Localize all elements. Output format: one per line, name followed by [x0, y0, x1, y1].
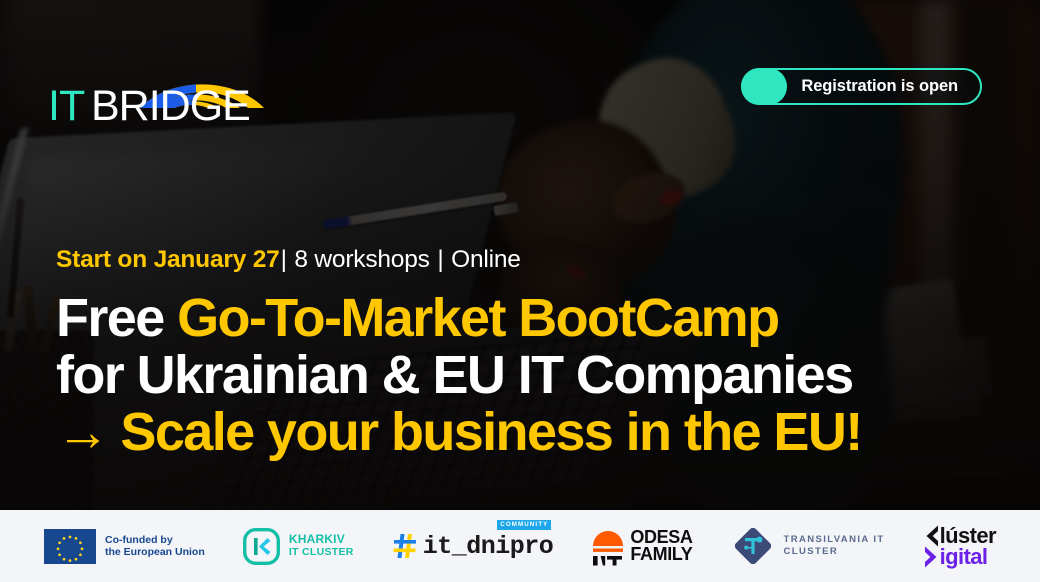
kharkiv-line-1: KHARKIV	[289, 533, 354, 546]
partner-odesa-it-family[interactable]: ODESA FAMILY	[591, 526, 692, 566]
odesa-line-2: FAMILY	[630, 546, 692, 563]
logo-text-it: IT	[48, 82, 85, 130]
registration-status-badge[interactable]: Registration is open	[741, 68, 982, 105]
partner-logos-bar: Co-funded by the European Union KHARKIV …	[0, 510, 1040, 582]
partner-european-union[interactable]: Co-funded by the European Union	[44, 529, 205, 564]
partner-it-dnipro[interactable]: COMMUNITY it_dnipro	[392, 531, 554, 561]
kharkiv-k-icon	[243, 528, 280, 565]
headline-block: Start on January 27| 8 workshops | Onlin…	[56, 246, 976, 461]
event-kicker: Start on January 27| 8 workshops | Onlin…	[56, 246, 976, 274]
hashtag-icon	[392, 531, 418, 561]
partner-transilvania-it-cluster[interactable]: TRANSILVANIA IT CLUSTER	[731, 524, 885, 568]
eu-partner-label: Co-funded by the European Union	[105, 534, 205, 559]
logo-text-bridge: BRIDGE	[91, 82, 250, 130]
transilvania-line-2: CLUSTER	[784, 546, 885, 558]
kicker-format: Online	[451, 246, 521, 273]
headline-free: Free	[56, 288, 164, 348]
dnipro-wordmark: it_dnipro	[423, 533, 554, 560]
headline-line-2: for Ukrainian & EU IT Companies	[56, 347, 976, 404]
eu-line-1: Co-funded by	[105, 534, 205, 547]
headline-bootcamp: Go-To-Market BootCamp	[177, 288, 778, 348]
status-dot-icon	[741, 68, 787, 105]
kicker-date: Start on January 27	[56, 246, 280, 273]
kicker-sep-2: |	[436, 246, 444, 273]
transilvania-partner-label: TRANSILVANIA IT CLUSTER	[784, 534, 885, 558]
sunrise-icon	[591, 526, 625, 566]
promo-banner: IT BRIDGE Registration is open Start on …	[0, 0, 1040, 582]
kharkiv-line-2: IT CLUSTER	[289, 546, 354, 559]
kharkiv-partner-label: KHARKIV IT CLUSTER	[289, 533, 354, 559]
digital-word: igital	[940, 546, 988, 568]
partner-cluster-digital[interactable]: lúster igital	[923, 524, 996, 569]
registration-badge-label: Registration is open	[801, 77, 958, 96]
dnipro-community-tag: COMMUNITY	[497, 520, 551, 530]
kicker-workshops: 8 workshops	[294, 246, 429, 273]
partner-kharkiv-it-cluster[interactable]: KHARKIV IT CLUSTER	[243, 528, 354, 565]
headline-line-3: →Scale your business in the EU!	[56, 404, 976, 461]
diamond-t-icon	[731, 524, 775, 568]
eu-flag-icon	[44, 529, 96, 564]
chevron-right-icon	[923, 545, 940, 569]
headline-line-1: Free Go-To-Market BootCamp	[56, 290, 976, 347]
headline-cta: Scale your business in the EU!	[120, 402, 861, 462]
arrow-right-icon: →	[56, 404, 108, 461]
kicker-sep-1: |	[280, 246, 288, 273]
eu-line-2: the European Union	[105, 546, 205, 559]
itbridge-logo[interactable]: IT BRIDGE	[44, 52, 284, 132]
transilvania-line-1: TRANSILVANIA IT	[784, 534, 885, 546]
